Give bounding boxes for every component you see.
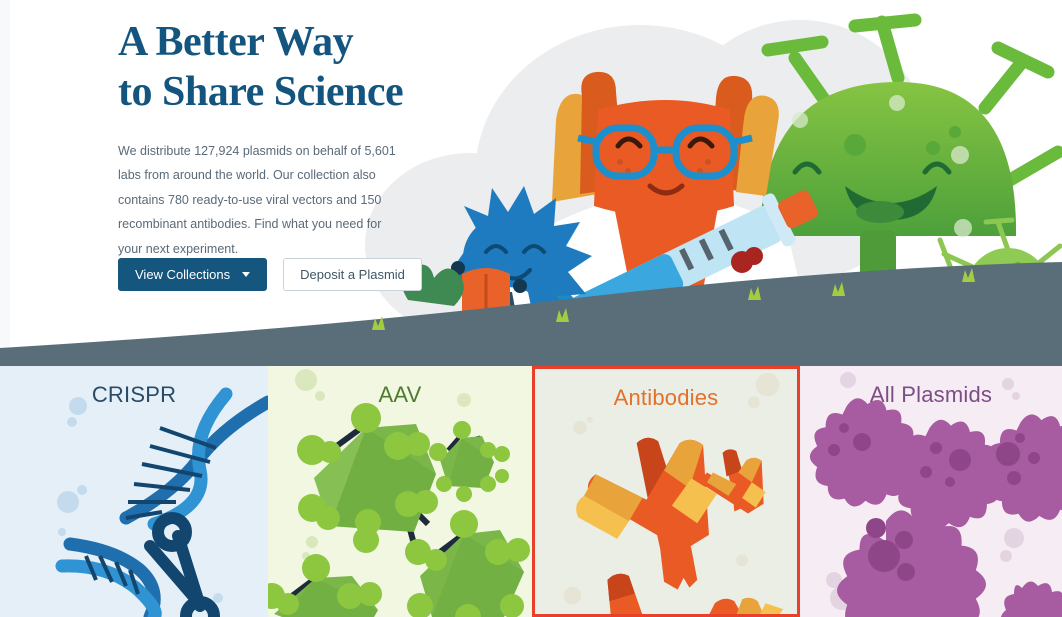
card-label-crispr: CRISPR — [0, 382, 268, 408]
card-label-all-plasmids: All Plasmids — [800, 382, 1062, 408]
card-label-antibodies: Antibodies — [535, 385, 797, 411]
hero-section: A Better Way to Share Science We distrib… — [0, 0, 1062, 366]
card-antibodies[interactable]: Antibodies — [532, 366, 800, 617]
view-collections-label: View Collections — [135, 267, 230, 282]
chevron-down-icon — [242, 272, 250, 277]
capsid-large — [297, 403, 438, 553]
card-crispr[interactable]: CRISPR — [0, 366, 268, 617]
card-label-aav: AAV — [268, 382, 532, 408]
capsid-bottom-right — [405, 510, 530, 617]
hero-button-row: View Collections Deposit a Plasmid — [118, 258, 422, 291]
card-all-plasmids[interactable]: All Plasmids — [800, 366, 1062, 617]
antibody-small-right — [703, 449, 765, 513]
antibody-large — [576, 438, 717, 590]
capsid-small — [429, 421, 510, 502]
hero-copy: A Better Way to Share Science We distrib… — [118, 18, 418, 261]
deposit-plasmid-button[interactable]: Deposit a Plasmid — [283, 258, 422, 291]
collection-cards: CRISPR — [0, 366, 1062, 617]
card-aav[interactable]: AAV — [268, 366, 532, 617]
view-collections-button[interactable]: View Collections — [118, 258, 267, 291]
page-title: A Better Way to Share Science — [118, 18, 418, 117]
capsid-bottom-left — [268, 554, 382, 617]
hero-description: We distribute 127,924 plasmids on behalf… — [118, 139, 406, 261]
landing-page: A Better Way to Share Science We distrib… — [0, 0, 1062, 617]
